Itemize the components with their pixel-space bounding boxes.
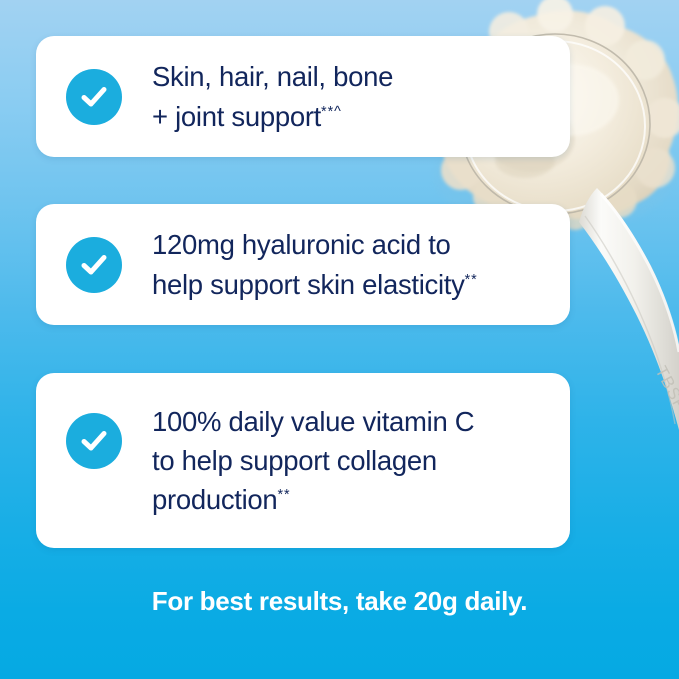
benefit-2-line-2: help support skin elasticity [152,269,465,300]
check-circle-icon [66,413,122,469]
benefit-card-3-text: 100% daily value vitamin C to help suppo… [152,402,490,519]
benefit-2-footnote: ** [465,271,478,287]
benefit-card-1: Skin, hair, nail, bone + joint support**… [36,36,570,157]
check-icon-wrap-3 [36,413,152,469]
benefit-card-3: 100% daily value vitamin C to help suppo… [36,373,570,548]
benefit-3-line-3: production [152,484,277,515]
dosage-instruction: For best results, take 20g daily. [0,586,679,617]
benefit-3-line-2: to help support collagen [152,445,437,476]
benefit-1-line-2: + joint support [152,101,321,132]
benefit-2-line-1: 120mg hyaluronic acid to [152,229,451,260]
benefit-card-2-text: 120mg hyaluronic acid to help support sk… [152,225,494,303]
benefit-card-2: 120mg hyaluronic acid to help support sk… [36,204,570,325]
check-icon-wrap-2 [36,237,152,293]
check-circle-icon [66,237,122,293]
scoop-handle-label: TBSP [651,363,679,415]
check-icon-wrap-1 [36,69,152,125]
benefit-card-1-text: Skin, hair, nail, bone + joint support**… [152,57,409,135]
benefit-1-line-1: Skin, hair, nail, bone [152,61,393,92]
benefit-1-footnote: **^ [321,103,342,119]
benefit-3-line-1: 100% daily value vitamin C [152,406,474,437]
check-circle-icon [66,69,122,125]
benefit-3-footnote: ** [277,487,290,503]
